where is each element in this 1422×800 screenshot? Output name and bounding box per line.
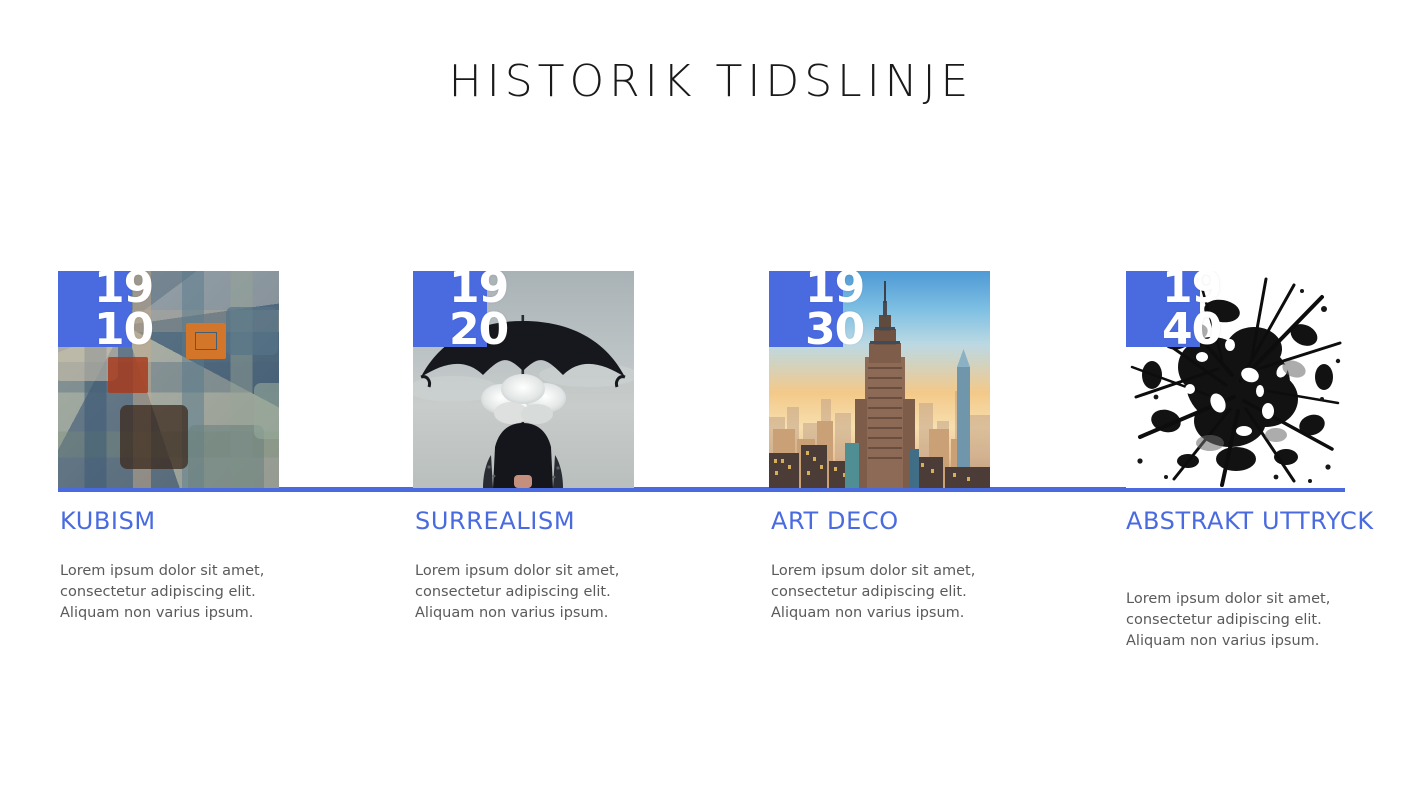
timeline-item-title: ART DECO <box>771 507 899 535</box>
page-title: HISTORIK TIDSLINJE <box>0 54 1422 110</box>
timeline-item-title: SURREALISM <box>415 507 575 535</box>
timeline-item-body: Lorem ipsum dolor sit amet, consectetur … <box>415 561 665 624</box>
timeline-item-image: 19 40 <box>1126 271 1347 488</box>
year-label: 19 10 <box>94 271 153 351</box>
year-label: 19 30 <box>805 271 864 351</box>
year-bottom: 30 <box>805 309 864 351</box>
timeline-item-title: ABSTRAKT UTTRYCK <box>1126 507 1374 535</box>
timeline-item-title: KUBISM <box>60 507 156 535</box>
timeline-item-image: 19 10 <box>58 271 279 488</box>
timeline-item[interactable]: 19 10 KUBISM Lorem ipsum dolor sit amet,… <box>58 271 348 488</box>
timeline-item-image: 19 30 <box>769 271 990 488</box>
timeline-slide: HISTORIK TIDSLINJE 19 10 KUBISM Lorem ip… <box>0 0 1422 800</box>
timeline-item[interactable]: 19 40 ABSTRAKT UTTRYCK Lorem ipsum dolor… <box>1124 271 1414 488</box>
timeline-item[interactable]: 19 20 SURREALISM Lorem ipsum dolor sit a… <box>413 271 703 488</box>
year-bottom: 20 <box>449 309 508 351</box>
year-label: 19 20 <box>449 271 508 351</box>
timeline-item[interactable]: 19 30 ART DECO Lorem ipsum dolor sit ame… <box>769 271 1059 488</box>
timeline-item-body: Lorem ipsum dolor sit amet, consectetur … <box>771 561 1021 624</box>
timeline-item-body: Lorem ipsum dolor sit amet, consectetur … <box>1126 589 1376 652</box>
year-label: 19 40 <box>1162 271 1221 351</box>
year-bottom: 40 <box>1162 309 1221 351</box>
timeline-item-body: Lorem ipsum dolor sit amet, consectetur … <box>60 561 310 624</box>
year-bottom: 10 <box>94 309 153 351</box>
timeline-item-image: 19 20 <box>413 271 634 488</box>
